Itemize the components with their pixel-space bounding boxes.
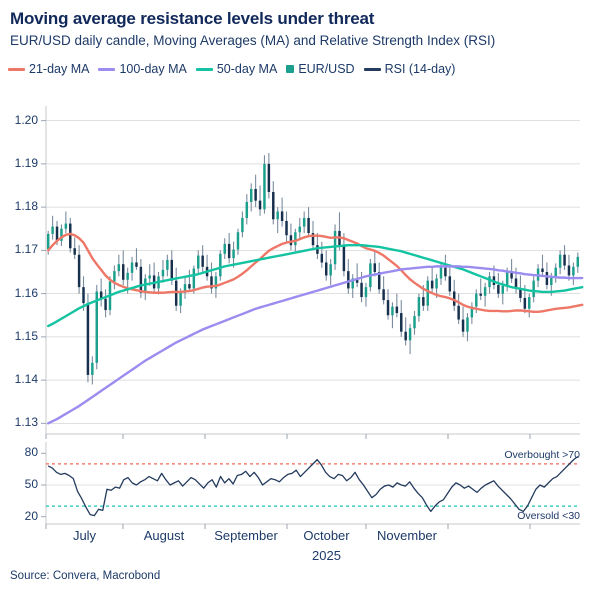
- x-axis-month-label: November: [352, 528, 462, 543]
- price-axis-tick-label: 1.14: [0, 372, 38, 386]
- candle-body: [162, 270, 164, 276]
- candle-body: [73, 248, 75, 254]
- candle-body: [285, 221, 287, 235]
- candle-body: [188, 284, 190, 288]
- chart-plot-svg: [0, 0, 600, 600]
- candle-body: [475, 294, 477, 307]
- chart-container: Moving average resistance levels under t…: [0, 0, 600, 600]
- candle-body: [577, 257, 579, 267]
- price-axis-tick-label: 1.13: [0, 415, 38, 429]
- candle-body: [276, 211, 278, 219]
- candle-body: [126, 273, 128, 280]
- candle-body: [343, 245, 345, 271]
- candle-body: [365, 287, 367, 297]
- price-axis-tick-label: 1.18: [0, 199, 38, 213]
- candle-body: [347, 271, 349, 288]
- rsi-axis-tick-label: 20: [0, 509, 38, 523]
- candle-body: [466, 317, 468, 331]
- candle-body: [321, 254, 323, 263]
- candle-body: [272, 192, 274, 219]
- candle-body: [69, 224, 71, 249]
- candle-body: [413, 316, 415, 328]
- candle-body: [82, 287, 84, 303]
- price-axis-tick-label: 1.20: [0, 113, 38, 127]
- candle-body: [550, 277, 552, 285]
- candle-body: [396, 307, 398, 313]
- candle-body: [135, 262, 137, 266]
- candle-body: [118, 264, 120, 271]
- candle-body: [263, 164, 265, 209]
- candle-body: [113, 271, 115, 281]
- candle-body: [201, 256, 203, 267]
- candle-body: [241, 218, 243, 232]
- candle-body: [290, 235, 292, 245]
- candle-body: [404, 332, 406, 341]
- candle-body: [259, 201, 261, 210]
- candle-body: [250, 189, 252, 202]
- rsi-axis-tick-label: 50: [0, 477, 38, 491]
- candle-body: [449, 276, 451, 291]
- candle-body: [175, 281, 177, 306]
- candle-body: [524, 298, 526, 309]
- candle-body: [179, 293, 181, 306]
- candle-body: [219, 254, 221, 276]
- price-axis-tick-label: 1.19: [0, 156, 38, 170]
- candle-body: [228, 244, 230, 258]
- candle-body: [299, 227, 301, 233]
- candle-body: [457, 306, 459, 320]
- candle-body: [462, 320, 464, 332]
- candle-body: [541, 269, 543, 272]
- candle-body: [479, 294, 481, 296]
- candle-body: [51, 227, 53, 234]
- candle-body: [294, 232, 296, 245]
- candle-body: [444, 268, 446, 277]
- candle-body: [148, 275, 150, 278]
- candle-body: [435, 278, 437, 288]
- overbought-annotation: Overbought >70: [504, 449, 580, 461]
- candle-body: [431, 281, 433, 289]
- candle-body: [528, 297, 530, 309]
- candle-body: [122, 264, 124, 280]
- candle-body: [546, 272, 548, 285]
- candle-body: [254, 189, 256, 201]
- oversold-annotation: Oversold <30: [517, 510, 580, 522]
- candle-body: [325, 262, 327, 275]
- candle-body: [166, 260, 168, 270]
- candle-body: [237, 232, 239, 249]
- candle-body: [47, 234, 49, 249]
- candle-body: [374, 263, 376, 272]
- candle-body: [329, 264, 331, 275]
- candle-body: [400, 313, 402, 332]
- candle-body: [223, 244, 225, 254]
- candle-body: [382, 289, 384, 300]
- candle-body: [140, 267, 142, 293]
- ma-line-50-day-ma: [48, 245, 582, 326]
- candle-body: [193, 269, 195, 289]
- candle-body: [532, 281, 534, 297]
- candle-body: [281, 211, 283, 221]
- candle-body: [554, 268, 556, 278]
- candle-body: [422, 297, 424, 306]
- candle-body: [488, 276, 490, 287]
- candle-body: [497, 285, 499, 294]
- price-axis-tick-label: 1.17: [0, 242, 38, 256]
- candle-body: [506, 272, 508, 286]
- candle-body: [360, 283, 362, 297]
- candle-body: [303, 218, 305, 227]
- x-axis-year-label: 2025: [267, 548, 387, 563]
- candle-body: [391, 307, 393, 316]
- candle-body: [559, 255, 561, 268]
- candle-body: [409, 328, 411, 340]
- candle-body: [427, 281, 429, 306]
- candle-body: [104, 299, 106, 310]
- candle-body: [418, 297, 420, 316]
- candle-body: [268, 164, 270, 192]
- candle-body: [232, 250, 234, 259]
- candle-body: [78, 255, 80, 287]
- candle-body: [387, 300, 389, 315]
- price-axis-tick-label: 1.15: [0, 329, 38, 343]
- candle-body: [572, 267, 574, 276]
- candle-body: [65, 224, 67, 229]
- source-note: Source: Convera, Macrobond: [10, 570, 160, 582]
- candle-body: [246, 202, 248, 218]
- price-axis-tick-label: 1.16: [0, 286, 38, 300]
- candle-body: [197, 256, 199, 269]
- candle-body: [307, 218, 309, 233]
- candle-body: [87, 303, 89, 375]
- candle-body: [563, 255, 565, 266]
- rsi-axis-tick-label: 80: [0, 445, 38, 459]
- candle-body: [131, 262, 133, 272]
- candle-body: [440, 268, 442, 279]
- candle-body: [91, 363, 93, 375]
- candle-body: [568, 266, 570, 276]
- candle-body: [502, 286, 504, 294]
- candle-body: [171, 260, 173, 281]
- candle-body: [484, 287, 486, 296]
